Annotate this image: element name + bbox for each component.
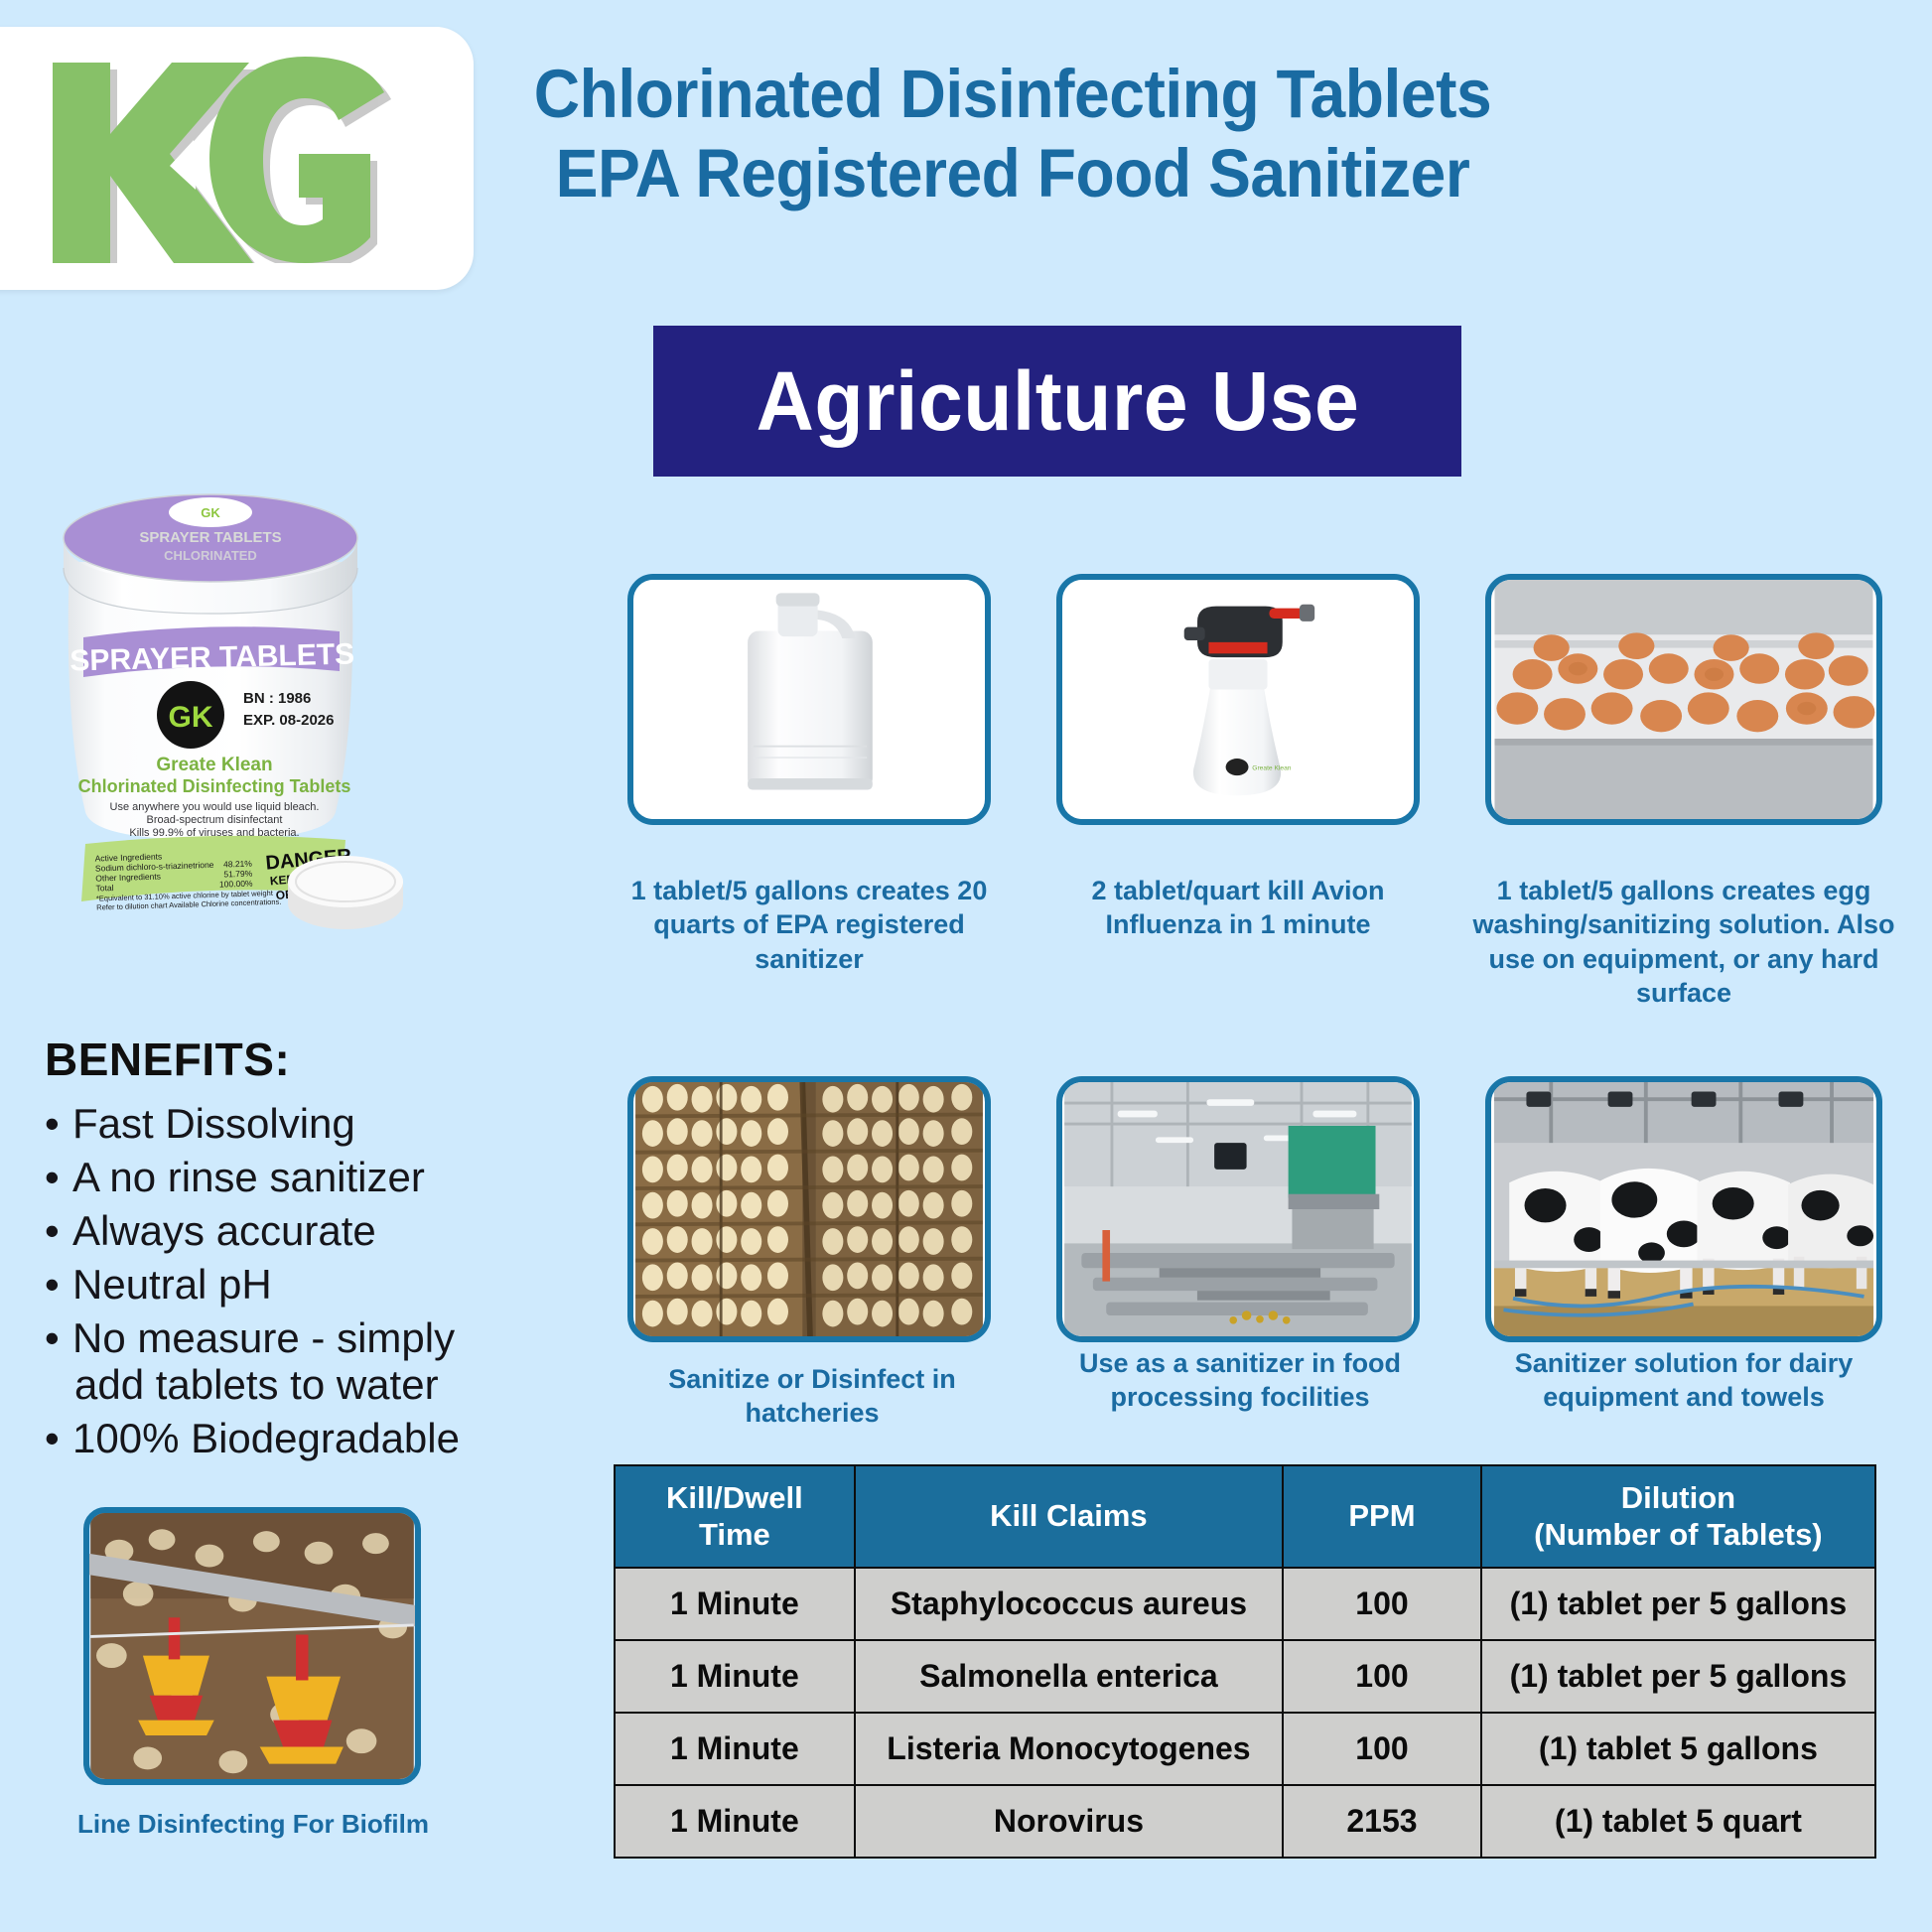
benefit-item: •Always accurate (45, 1207, 511, 1254)
column-header-kill-claims: Kill Claims (855, 1465, 1283, 1568)
cell-kill-claim: Salmonella enterica (855, 1640, 1283, 1713)
use-case-caption-dairy-cows: Sanitizer solution for dairy equipment a… (1467, 1346, 1900, 1415)
svg-text:Greate Klean: Greate Klean (1252, 764, 1292, 771)
table-header-row: Kill/DwellTime Kill Claims PPM Dilution(… (615, 1465, 1875, 1568)
benefit-item: •Neutral pH (45, 1261, 511, 1308)
ingredient-row-3-name: Total (95, 883, 113, 894)
page-title-line-2: EPA Registered Food Sanitizer (505, 134, 1521, 213)
cell-dilution: (1) tablet per 5 gallons (1481, 1640, 1875, 1713)
product-batch-number: BN : 1986 (243, 690, 311, 707)
product-tub-photo: GK SPRAYER TABLETS CHLORINATED SPRAYER T… (40, 488, 437, 945)
use-case-image-jug (627, 574, 991, 825)
svg-text:GK: GK (201, 505, 220, 520)
table-row: 1 Minute Listeria Monocytogenes 100 (1) … (615, 1713, 1875, 1785)
brand-logo-card (0, 27, 474, 290)
page-title-line-1: Chlorinated Disinfecting Tablets (505, 55, 1521, 134)
column-header-ppm: PPM (1283, 1465, 1481, 1568)
cell-kill-claim: Listeria Monocytogenes (855, 1713, 1283, 1785)
benefits-list: •Fast Dissolving •A no rinse sanitizer •… (45, 1100, 511, 1461)
table-row: 1 Minute Staphylococcus aureus 100 (1) t… (615, 1568, 1875, 1640)
table-row: 1 Minute Norovirus 2153 (1) tablet 5 qua… (615, 1785, 1875, 1858)
benefit-item: •A no rinse sanitizer (45, 1154, 511, 1200)
cell-dwell-time: 1 Minute (615, 1785, 855, 1858)
cell-kill-claim: Staphylococcus aureus (855, 1568, 1283, 1640)
product-brand-name: Greate Klean (156, 755, 272, 775)
cell-ppm: 100 (1283, 1640, 1481, 1713)
use-case-image-sprayer: Greate Klean (1056, 574, 1420, 825)
use-case-image-food-processing (1056, 1076, 1420, 1342)
product-name: Chlorinated Disinfecting Tablets (78, 776, 351, 796)
benefits-section: BENEFITS: •Fast Dissolving •A no rinse s… (45, 1033, 511, 1468)
product-badge-logo: GK (169, 701, 213, 734)
cell-ppm: 2153 (1283, 1785, 1481, 1858)
product-blurb-1: Use anywhere you would use liquid bleach… (110, 801, 320, 813)
use-case-image-hatchery (627, 1076, 991, 1342)
kg-logo-icon (45, 55, 422, 263)
svg-text:CHLORINATED: CHLORINATED (164, 548, 257, 563)
use-case-caption-hatchery: Sanitize or Disinfect in hatcheries (623, 1362, 1001, 1431)
benefit-item: •Fast Dissolving (45, 1100, 511, 1147)
benefit-item: •No measure - simplyadd tablets to water (45, 1314, 511, 1408)
use-case-caption-food-processing: Use as a sanitizer in food processing fo… (1038, 1346, 1442, 1415)
product-expiry: EXP. 08-2026 (243, 712, 334, 729)
column-header-dilution: Dilution(Number of Tablets) (1481, 1465, 1875, 1568)
column-header-kill-dwell-time: Kill/DwellTime (615, 1465, 855, 1568)
use-case-caption-sprayer: 2 tablet/quart kill Avion Influenza in 1… (1033, 874, 1444, 942)
cell-dilution: (1) tablet 5 gallons (1481, 1713, 1875, 1785)
ingredient-row-2-name: Other Ingredients (95, 872, 161, 884)
use-case-caption-egg-conveyor: 1 tablet/5 gallons creates egg washing/s… (1469, 874, 1898, 1010)
product-band-label: SPRAYER TABLETS (69, 638, 354, 678)
cell-dilution: (1) tablet per 5 gallons (1481, 1568, 1875, 1640)
biofilm-caption: Line Disinfecting For Biofilm (40, 1809, 467, 1840)
product-blurb-2: Broad-spectrum disinfectant (147, 814, 283, 826)
cell-kill-claim: Norovirus (855, 1785, 1283, 1858)
cell-dilution: (1) tablet 5 quart (1481, 1785, 1875, 1858)
biofilm-image-card (83, 1507, 421, 1785)
benefit-item: •100% Biodegradable (45, 1415, 511, 1461)
cell-dwell-time: 1 Minute (615, 1640, 855, 1713)
use-case-caption-jug: 1 tablet/5 gallons creates 20 quarts of … (604, 874, 1015, 976)
benefits-heading: BENEFITS: (45, 1033, 511, 1086)
section-banner-agriculture-use: Agriculture Use (653, 326, 1461, 477)
page-title: Chlorinated Disinfecting Tablets EPA Reg… (467, 55, 1559, 213)
ingredient-row-3-value: 100.00% (219, 879, 253, 890)
loose-tablet-icon (288, 856, 403, 929)
cell-dwell-time: 1 Minute (615, 1568, 855, 1640)
table-row: 1 Minute Salmonella enterica 100 (1) tab… (615, 1640, 1875, 1713)
cell-dwell-time: 1 Minute (615, 1713, 855, 1785)
svg-text:SPRAYER TABLETS: SPRAYER TABLETS (139, 529, 281, 546)
kill-claims-table: Kill/DwellTime Kill Claims PPM Dilution(… (614, 1464, 1876, 1859)
section-banner-label: Agriculture Use (756, 353, 1359, 450)
use-case-image-egg-conveyor (1485, 574, 1882, 825)
cell-ppm: 100 (1283, 1713, 1481, 1785)
use-case-image-dairy-cows (1485, 1076, 1882, 1342)
cell-ppm: 100 (1283, 1568, 1481, 1640)
